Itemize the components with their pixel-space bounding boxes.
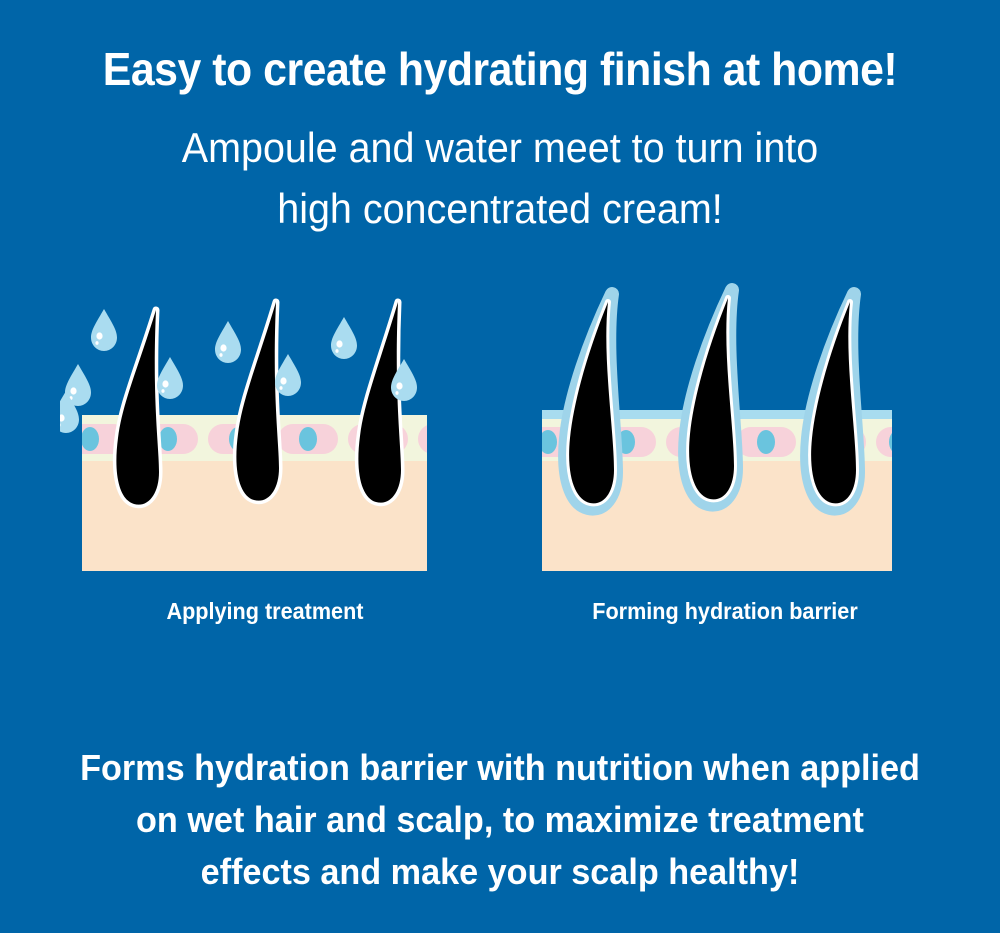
subtitle-line-2: high concentrated cream! <box>30 179 970 240</box>
caption-applying-treatment: Applying treatment <box>86 598 443 625</box>
subtitle-line-1: Ampoule and water meet to turn into <box>30 118 970 179</box>
footer-line-3: effects and make your scalp healthy! <box>25 846 975 898</box>
footer-line-2: on wet hair and scalp, to maximize treat… <box>25 794 975 846</box>
diagram-panel-applying-treatment <box>60 280 440 640</box>
hair-follicle <box>236 302 279 501</box>
diagram-area <box>0 280 1000 640</box>
hair-follicle-coated <box>807 294 858 509</box>
hair-follicle-coated <box>685 290 736 505</box>
hair-follicle <box>358 302 401 503</box>
hair-follicle-group <box>565 290 858 509</box>
water-droplet <box>331 317 357 359</box>
epidermis-cell <box>278 424 338 454</box>
hair-follicle-coated <box>565 294 616 509</box>
infographic-page: Easy to create hydrating finish at home!… <box>0 0 1000 933</box>
epidermis-cell <box>736 427 796 457</box>
hair-follicle-group <box>116 302 401 505</box>
caption-forming-hydration-barrier: Forming hydration barrier <box>546 598 903 625</box>
footer-line-1: Forms hydration barrier with nutrition w… <box>25 742 975 794</box>
footer-description: Forms hydration barrier with nutrition w… <box>25 742 975 897</box>
water-droplet <box>275 354 301 396</box>
page-title: Easy to create hydrating finish at home! <box>35 42 965 96</box>
hair-follicle <box>116 310 159 505</box>
water-droplet <box>157 357 183 399</box>
diagram-panel-forming-hydration-barrier <box>520 280 900 640</box>
water-droplet <box>215 321 241 363</box>
page-subtitle: Ampoule and water meet to turn into high… <box>30 118 970 240</box>
water-droplet <box>91 309 117 351</box>
